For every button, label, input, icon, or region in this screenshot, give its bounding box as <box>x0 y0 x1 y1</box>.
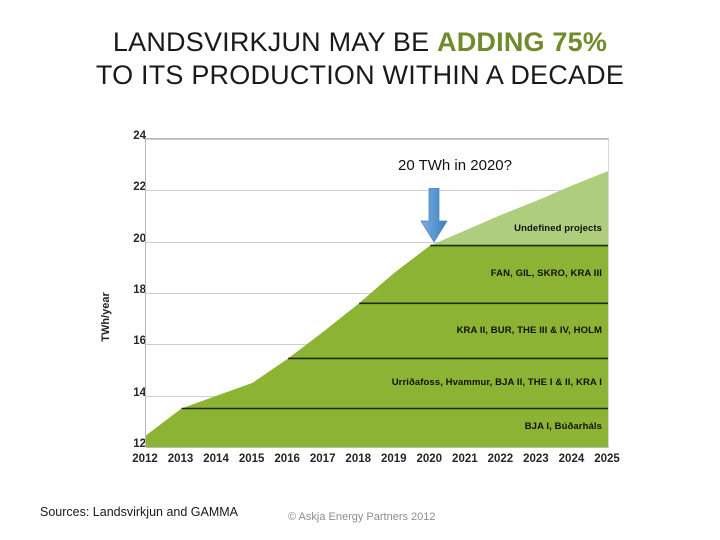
y-axis-tick-22: 22 <box>112 181 146 193</box>
band-label-1: BJA I, Búðarháls <box>525 421 602 432</box>
page-title-accent: ADDING 75% <box>437 27 607 57</box>
area-series-polygons <box>146 139 608 447</box>
x-axis-tick-2025: 2025 <box>585 453 629 465</box>
plot-area: BJA I, BúðarhálsUrriðafoss, Hvammur, BJA… <box>145 138 609 447</box>
plot-inner: BJA I, BúðarhálsUrriðafoss, Hvammur, BJA… <box>146 139 608 447</box>
y-axis-tick-24: 24 <box>112 130 146 142</box>
page-title-line-1: LANDSVIRKJUN MAY BE ADDING 75% <box>0 26 720 59</box>
annotation-label-20twh: 20 TWh in 2020? <box>330 157 580 174</box>
x-axis-tick-labels: 2012201320142015201620172018201920202021… <box>145 453 608 473</box>
y-axis-title: TWh/year <box>100 267 112 367</box>
y-axis-tick-12: 12 <box>112 438 146 450</box>
y-axis-tick-14: 14 <box>112 387 146 399</box>
y-axis-tick-18: 18 <box>112 284 146 296</box>
page-title: LANDSVIRKJUN MAY BE ADDING 75% TO ITS PR… <box>0 26 720 92</box>
y-axis-tick-16: 16 <box>112 335 146 347</box>
page-title-line-1-plain: LANDSVIRKJUN MAY BE <box>113 27 437 57</box>
sources-note: Sources: Landsvirkjun and GAMMA <box>40 505 238 519</box>
chart-area-stacked-production: TWh/year 12141618202224 BJA I, Búðarháls… <box>100 125 620 475</box>
band-label-4: FAN, GIL, SKRO, KRA III <box>491 268 602 279</box>
x-axis-line <box>146 447 609 448</box>
band-label-3: KRA II, BUR, THE III & IV, HOLM <box>457 325 602 336</box>
band-label-2: Urriðafoss, Hvammur, BJA II, THE I & II,… <box>392 377 602 388</box>
copyright-note: © Askja Energy Partners 2012 <box>288 511 436 523</box>
page-title-line-2: TO ITS PRODUCTION WITHIN A DECADE <box>0 59 720 92</box>
band-label-5: Undefined projects <box>514 223 602 234</box>
y-axis-tick-20: 20 <box>112 233 146 245</box>
down-arrow-icon <box>420 188 448 243</box>
